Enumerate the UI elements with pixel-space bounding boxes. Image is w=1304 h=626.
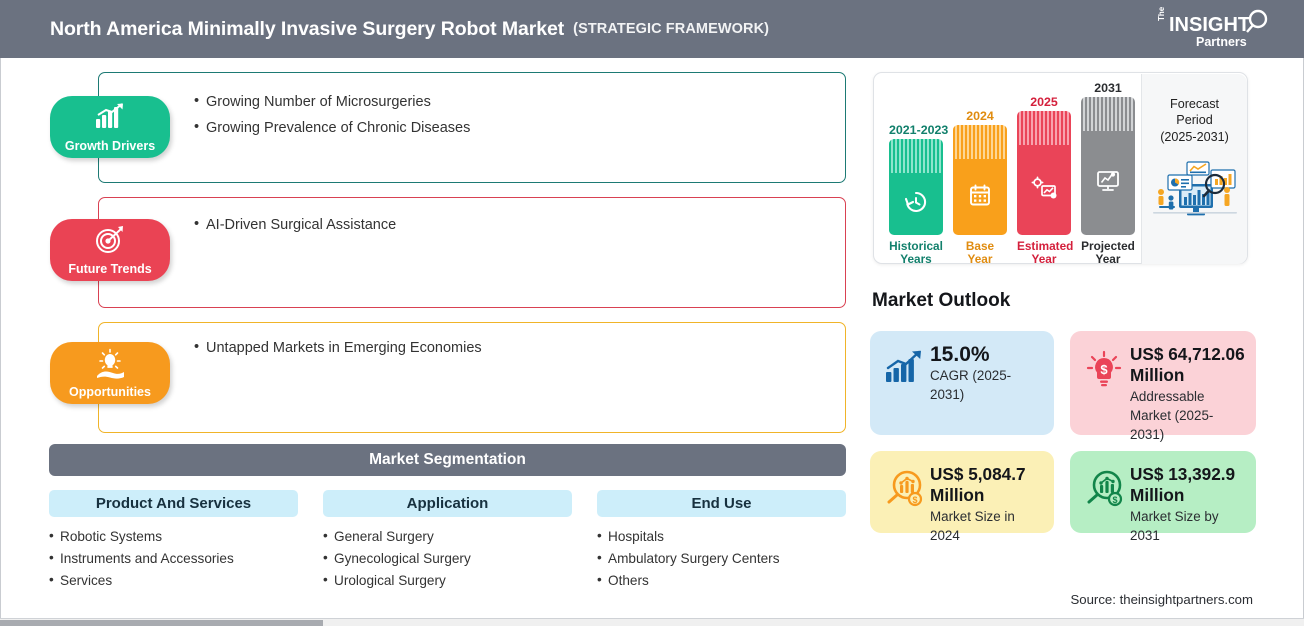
market-segmentation-title: Market Segmentation [369, 451, 526, 469]
timeline-year: 2025 [1017, 95, 1071, 109]
card-description: CAGR (2025-2031) [930, 366, 1043, 404]
list-item: Others [597, 573, 846, 588]
svg-text:$: $ [912, 495, 917, 505]
outlook-card-cagr: 15.0% CAGR (2025-2031) [870, 331, 1054, 435]
infographic-page: North America Minimally Invasive Surgery… [0, 0, 1304, 626]
list-item: General Surgery [323, 529, 572, 544]
list-item: Growing Number of Microsurgeries [194, 94, 470, 110]
segment-header: Application [323, 490, 572, 517]
card-value: US$ 5,084.7 Million [930, 464, 1043, 506]
lightbulb-dollar-icon: $ [1081, 344, 1127, 388]
market-outlook-title: Market Outlook [872, 290, 1010, 312]
bar-chart-arrow-icon [881, 344, 927, 384]
source-label: Source: theinsightpartners.com [1070, 592, 1253, 607]
timeline-bar [1081, 97, 1135, 235]
outlook-card-addressable-market: $ US$ 64,712.06 Million Addressable Mark… [1070, 331, 1256, 435]
bar-solid [953, 159, 1007, 235]
bar-solid [889, 173, 943, 235]
future-trends-list: AI-Driven Surgical Assistance [194, 217, 396, 243]
badge-growth-drivers[interactable]: Growth Drivers [50, 96, 170, 158]
page-subtitle: (STRATEGIC FRAMEWORK) [573, 21, 769, 37]
gear-chart-icon [1031, 176, 1057, 205]
segment-list: General Surgery Gynecological Surgery Ur… [323, 529, 572, 588]
timeline-item-base: 2024 [953, 109, 1007, 266]
card-description: Market Size by 2031 [1130, 507, 1245, 545]
outlook-card-market-size-2024: $ US$ 5,084.7 Million Market Size in 202… [870, 451, 1054, 533]
list-item: Ambulatory Surgery Centers [597, 551, 846, 566]
timeline-bar [1017, 111, 1071, 235]
list-item: Robotic Systems [49, 529, 298, 544]
badge-opportunities[interactable]: Opportunities [50, 342, 170, 404]
segment-header: End Use [597, 490, 846, 517]
list-item: AI-Driven Surgical Assistance [194, 217, 396, 233]
opportunities-frame [98, 322, 846, 433]
timeline-bar [953, 125, 1007, 235]
opportunities-list: Untapped Markets in Emerging Economies [194, 340, 482, 366]
timeline-label-line2: Years [889, 253, 943, 266]
bar-solid [1081, 131, 1135, 235]
card-description: Market Size in 2024 [930, 507, 1043, 545]
bar-stripe-top [1017, 111, 1071, 145]
svg-text:$: $ [1100, 362, 1108, 377]
timeline-label-line2: Year [953, 253, 1007, 266]
badge-label: Future Trends [68, 262, 151, 276]
insight-partners-logo: The INSIGHT Partners [1152, 7, 1276, 51]
future-trends-frame [98, 197, 846, 308]
svg-text:The: The [1157, 7, 1166, 21]
forecast-timeline-panel: 2021-2023 [873, 72, 1248, 264]
badge-label: Growth Drivers [65, 139, 155, 153]
timeline-year: 2021-2023 [889, 123, 943, 137]
clock-history-icon [903, 189, 929, 220]
calendar-icon [968, 183, 992, 212]
horizontal-scrollbar[interactable] [0, 618, 1304, 626]
timeline-year: 2031 [1081, 81, 1135, 95]
forecast-label-line2: Period [1142, 112, 1247, 128]
badge-future-trends[interactable]: Future Trends [50, 219, 170, 281]
card-description: Addressable Market (2025-2031) [1130, 387, 1245, 444]
timeline-label-line2: Year [1081, 253, 1135, 266]
page-header: North America Minimally Invasive Surgery… [0, 0, 1304, 58]
timeline-bars: 2021-2023 [885, 73, 1125, 265]
outlook-card-market-size-2031: $ US$ 13,392.9 Million Market Size by 20… [1070, 451, 1256, 533]
card-value: US$ 13,392.9 Million [1130, 464, 1245, 506]
timeline-item-estimated: 2025 [1017, 95, 1071, 266]
forecast-label-line1: Forecast [1142, 96, 1247, 112]
list-item: Urological Surgery [323, 573, 572, 588]
card-value: US$ 64,712.06 Million [1130, 344, 1245, 386]
bar-stripe-top [1081, 97, 1135, 131]
segment-header: Product And Services [49, 490, 298, 517]
target-dart-icon [50, 225, 170, 255]
forecast-period-panel: Forecast Period (2025-2031) [1141, 74, 1247, 264]
bar-stripe-top [889, 139, 943, 173]
timeline-bar [889, 139, 943, 235]
list-item: Hospitals [597, 529, 846, 544]
badge-label: Opportunities [69, 385, 151, 399]
list-item: Services [49, 573, 298, 588]
magnifier-bars-dollar-icon: $ [881, 464, 927, 508]
svg-text:Partners: Partners [1196, 35, 1247, 49]
segment-column-application: Application General Surgery Gynecologica… [323, 490, 572, 595]
list-item: Untapped Markets in Emerging Economies [194, 340, 482, 356]
forecast-years: (2025-2031) [1142, 130, 1247, 144]
list-item: Growing Prevalence of Chronic Diseases [194, 120, 470, 136]
analytics-illustration-icon [1142, 158, 1247, 220]
monitor-chart-icon [1095, 169, 1121, 198]
content-area: Growing Number of Microsurgeries Growing… [0, 58, 1304, 618]
card-value: 15.0% [930, 344, 1043, 365]
magnifier-bars-dollar-icon: $ [1081, 464, 1127, 508]
growth-drivers-list: Growing Number of Microsurgeries Growing… [194, 94, 470, 146]
timeline-year: 2024 [953, 109, 1007, 123]
segment-list: Robotic Systems Instruments and Accessor… [49, 529, 298, 588]
bar-stripe-top [953, 125, 1007, 159]
list-item: Gynecological Surgery [323, 551, 572, 566]
svg-text:$: $ [1112, 495, 1117, 505]
segment-list: Hospitals Ambulatory Surgery Centers Oth… [597, 529, 846, 588]
timeline-item-projected: 2031 [1081, 81, 1135, 266]
bar-chart-growth-icon [50, 102, 170, 130]
list-item: Instruments and Accessories [49, 551, 298, 566]
segment-column-end-use: End Use Hospitals Ambulatory Surgery Cen… [597, 490, 846, 595]
page-title: North America Minimally Invasive Surgery… [50, 18, 564, 41]
timeline-item-historical: 2021-2023 [889, 123, 943, 266]
bar-solid [1017, 145, 1071, 235]
market-segmentation-header: Market Segmentation [49, 444, 846, 476]
svg-text:INSIGHT: INSIGHT [1169, 14, 1250, 36]
timeline-label-line2: Year [1017, 253, 1071, 266]
scrollbar-thumb[interactable] [0, 620, 323, 626]
lightbulb-hand-icon [50, 348, 170, 380]
segment-column-product-and-services: Product And Services Robotic Systems Ins… [49, 490, 298, 595]
